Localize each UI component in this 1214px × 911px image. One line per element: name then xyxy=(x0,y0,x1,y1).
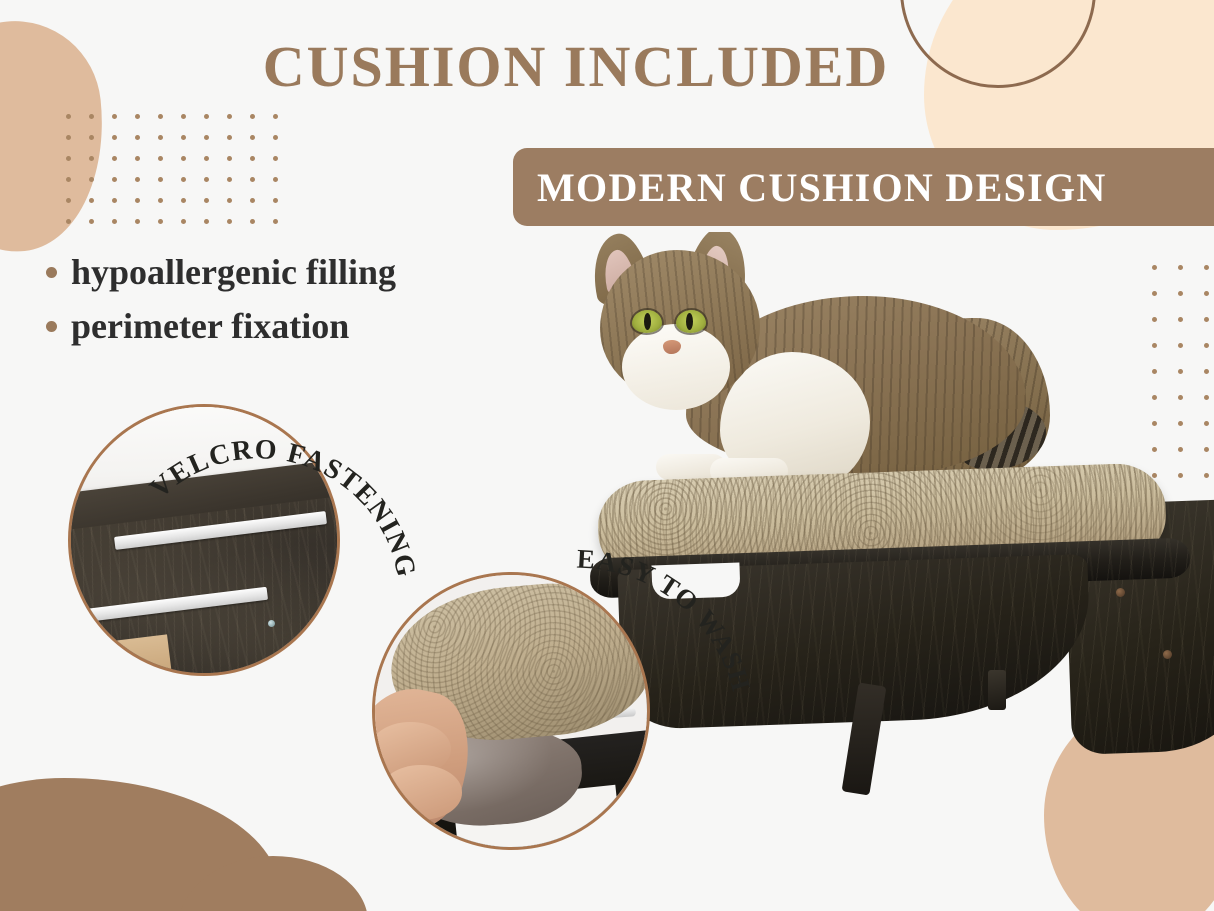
grid-dot xyxy=(66,114,71,119)
grid-dot xyxy=(227,135,232,140)
shelf-peg xyxy=(988,670,1006,710)
grid-dot xyxy=(250,114,255,119)
shelf-screw xyxy=(1116,588,1125,597)
grid-dot xyxy=(181,198,186,203)
grid-dot xyxy=(112,198,117,203)
grid-dot xyxy=(204,156,209,161)
blob-bottom-left-shape xyxy=(0,778,280,911)
grid-dot xyxy=(227,219,232,224)
svg-text:EASY TO WASH: EASY TO WASH xyxy=(576,544,757,696)
page-title: CUSHION INCLUDED xyxy=(196,38,956,96)
banner-label: MODERN CUSHION DESIGN xyxy=(513,164,1107,211)
grid-dot xyxy=(204,219,209,224)
infographic-canvas: CUSHION INCLUDED MODERN CUSHION DESIGN h… xyxy=(0,0,1214,911)
shelf-screw xyxy=(1163,650,1172,659)
callout-caption-wash: EASY TO WASH xyxy=(530,540,780,810)
grid-dot xyxy=(273,114,278,119)
grid-dot xyxy=(89,156,94,161)
grid-dot xyxy=(250,135,255,140)
list-item: hypoallergenic filling xyxy=(46,253,546,293)
grid-dot xyxy=(158,219,163,224)
grid-dot xyxy=(66,156,71,161)
bullet-dot-icon xyxy=(46,321,57,332)
finger xyxy=(380,765,462,819)
grid-dot xyxy=(89,114,94,119)
grid-dot xyxy=(112,114,117,119)
grid-dot xyxy=(112,177,117,182)
grid-dot xyxy=(89,177,94,182)
grid-dot xyxy=(181,135,186,140)
grid-dot xyxy=(135,156,140,161)
grid-dot xyxy=(250,198,255,203)
grid-dot xyxy=(135,135,140,140)
callout-caption-wash-label: EASY TO WASH xyxy=(576,544,757,696)
grid-dot xyxy=(204,114,209,119)
dot-grid-left xyxy=(66,114,296,240)
cat-pupil-right xyxy=(686,313,693,330)
grid-dot xyxy=(135,198,140,203)
grid-dot xyxy=(204,135,209,140)
grid-dot xyxy=(181,177,186,182)
grid-dot xyxy=(158,114,163,119)
feature-bullet-list: hypoallergenic filling perimeter fixatio… xyxy=(46,253,546,360)
grid-dot xyxy=(250,177,255,182)
grid-dot xyxy=(66,198,71,203)
grid-dot xyxy=(204,177,209,182)
grid-dot xyxy=(181,219,186,224)
grid-dot xyxy=(66,177,71,182)
grid-dot xyxy=(273,156,278,161)
feature-bullet-label: perimeter fixation xyxy=(71,307,349,347)
bullet-dot-icon xyxy=(46,267,57,278)
grid-dot xyxy=(158,156,163,161)
grid-dot xyxy=(66,135,71,140)
grid-dot xyxy=(227,198,232,203)
svg-text:VELCRO FASTENING: VELCRO FASTENING xyxy=(144,434,422,581)
grid-dot xyxy=(135,114,140,119)
callout-caption-velcro-label: VELCRO FASTENING xyxy=(144,434,422,581)
grid-dot xyxy=(250,219,255,224)
grid-dot xyxy=(273,219,278,224)
grid-dot xyxy=(204,198,209,203)
modern-cushion-design-banner: MODERN CUSHION DESIGN xyxy=(513,148,1214,226)
blob-bottom-left-secondary-shape xyxy=(178,856,368,911)
list-item: perimeter fixation xyxy=(46,307,546,347)
grid-dot xyxy=(158,198,163,203)
grid-dot xyxy=(112,219,117,224)
grid-dot xyxy=(181,114,186,119)
grid-dot xyxy=(273,135,278,140)
grid-dot xyxy=(227,177,232,182)
grid-dot xyxy=(66,219,71,224)
grid-dot xyxy=(158,177,163,182)
grid-dot xyxy=(250,156,255,161)
grid-dot xyxy=(89,135,94,140)
grid-dot xyxy=(89,198,94,203)
grid-dot xyxy=(135,219,140,224)
grid-dot xyxy=(112,156,117,161)
grid-dot xyxy=(158,135,163,140)
cat-pupil-left xyxy=(644,313,651,330)
grid-dot xyxy=(181,156,186,161)
cat-muzzle xyxy=(622,324,730,410)
feature-bullet-label: hypoallergenic filling xyxy=(71,253,396,293)
grid-dot xyxy=(227,156,232,161)
grid-dot xyxy=(273,198,278,203)
grid-dot xyxy=(112,135,117,140)
grid-dot xyxy=(89,219,94,224)
grid-dot xyxy=(135,177,140,182)
grid-dot xyxy=(227,114,232,119)
grid-dot xyxy=(273,177,278,182)
